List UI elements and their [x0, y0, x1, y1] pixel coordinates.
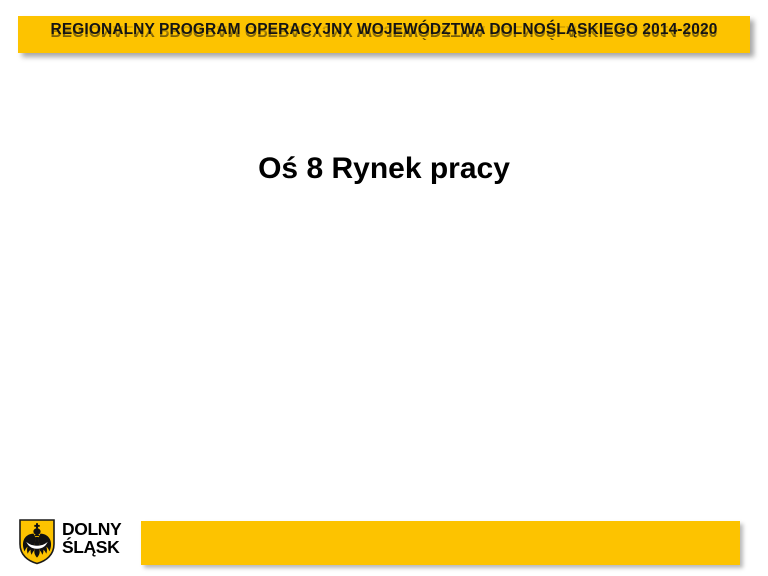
silesian-eagle-crest-icon [18, 518, 56, 565]
footer-wordmark: DOLNY ŚLĄSK [62, 521, 144, 556]
header-banner-reflection: REGIONALNY PROGRAM OPERACYJNY WOJEWÓDZTW… [18, 21, 750, 40]
presentation-slide: REGIONALNY PROGRAM OPERACYJNY WOJEWÓDZTW… [0, 0, 768, 576]
footer-bar [141, 521, 740, 565]
footer-wordmark-line-1: DOLNY [62, 521, 144, 539]
page-title: Oś 8 Rynek pracy [62, 150, 706, 188]
footer-logo: DOLNY ŚLĄSK [18, 517, 143, 567]
body-content-placeholder [62, 220, 706, 470]
content-area: Oś 8 Rynek pracy [0, 100, 768, 500]
footer-wordmark-line-2: ŚLĄSK [62, 539, 144, 557]
header-banner: REGIONALNY PROGRAM OPERACYJNY WOJEWÓDZTW… [18, 16, 750, 53]
